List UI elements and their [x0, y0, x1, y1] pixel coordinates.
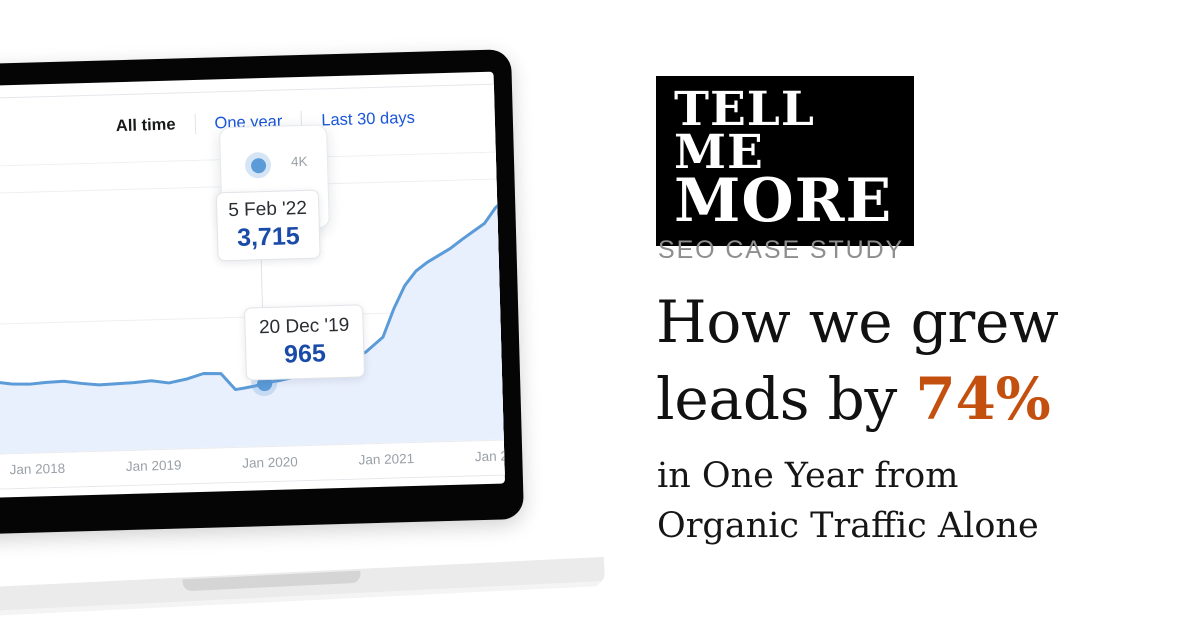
- subtitle-line-2: Organic Traffic Alone: [657, 502, 1157, 552]
- tooltip-card-feb-2022: 4K 5 Feb '22 3,715: [219, 124, 330, 231]
- laptop-mockup: All time One year Last 30 days: [0, 49, 540, 568]
- promo-graphic: All time One year Last 30 days: [0, 0, 1200, 630]
- tooltip-date: 5 Feb '22: [228, 196, 307, 223]
- subtitle: in One Year from Organic Traffic Alone: [657, 452, 1157, 551]
- tooltip-feb-2022: 5 Feb '22 3,715: [216, 190, 321, 262]
- y-label-4k-overlay: 4K: [291, 154, 308, 169]
- subtitle-line-1: in One Year from: [657, 452, 1157, 502]
- headline-highlight: 74%: [915, 365, 1050, 433]
- brand-logo-line-2: MORE: [674, 174, 896, 229]
- promo-text-column: TELL ME MORE SEO CASE STUDY How we grew …: [654, 0, 1164, 630]
- data-point-feb-2022[interactable]: [245, 152, 272, 179]
- laptop-screen: All time One year Last 30 days: [0, 72, 505, 501]
- page-title: How we grew leads by 74%: [656, 284, 1161, 437]
- x-tick-jan-2022: Jan 2022: [475, 448, 505, 465]
- kicker-label: SEO CASE STUDY: [658, 236, 904, 265]
- x-tick-jan-2019: Jan 2019: [126, 457, 182, 474]
- tooltip-value: 965: [259, 338, 350, 371]
- tooltip-dec-2019: 20 Dec '19 965: [244, 304, 364, 380]
- laptop-bezel: All time One year Last 30 days: [0, 49, 524, 537]
- x-tick-jan-2020: Jan 2020: [242, 454, 298, 471]
- laptop-base: [0, 557, 605, 624]
- brand-logo: TELL ME MORE: [656, 76, 914, 246]
- brand-logo-line-1: TELL ME: [674, 88, 896, 174]
- tooltip-value: 3,715: [229, 221, 308, 253]
- x-tick-jan-2021: Jan 2021: [358, 451, 414, 468]
- x-tick-jan-2018: Jan 2018: [9, 461, 65, 478]
- tab-all-time[interactable]: All time: [97, 113, 195, 138]
- tooltip-date: 20 Dec '19: [259, 313, 350, 341]
